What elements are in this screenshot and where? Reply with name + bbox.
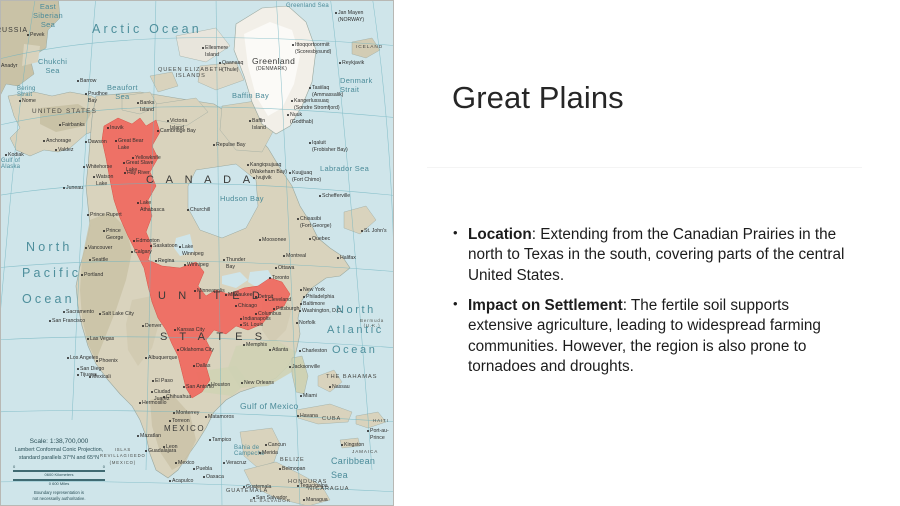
slide: Arctic Ocean North Pacific Ocean North A…	[0, 0, 900, 506]
map-city-dot	[329, 386, 331, 388]
map-city-dot	[142, 325, 144, 327]
map-city-dot	[77, 80, 79, 82]
map-city-dot	[213, 144, 215, 146]
map-city-dot	[265, 444, 267, 446]
map-city-dot	[169, 420, 171, 422]
map-city-dot	[63, 311, 65, 313]
map-city-dot	[291, 100, 293, 102]
map-city-dot	[155, 260, 157, 262]
map-city-dot	[77, 368, 79, 370]
map-city-dot	[145, 450, 147, 452]
map-city-dot	[87, 338, 89, 340]
map-city-dot	[124, 172, 126, 174]
map-city-dot	[96, 360, 98, 362]
map-city-dot	[265, 299, 267, 301]
map-city-dot	[187, 209, 189, 211]
map-city-dot	[43, 140, 45, 142]
map-city-dot	[193, 468, 195, 470]
bullet-lead-impact: Impact on Settlement	[468, 297, 623, 314]
map-city-dot	[59, 124, 61, 126]
map-city-dot	[150, 245, 152, 247]
map-city-dot	[27, 34, 29, 36]
map-city-dot	[208, 384, 210, 386]
map-city-dot	[309, 238, 311, 240]
map-city-dot	[223, 259, 225, 261]
map-city-dot	[93, 176, 95, 178]
map-city-dot	[337, 257, 339, 259]
map-city-dot	[240, 324, 242, 326]
map-city-dot	[240, 318, 242, 320]
map-boundary-note: Boundary representation is not necessari…	[0, 490, 134, 502]
page-title: Great Plains	[452, 79, 624, 116]
map-city-dot	[173, 412, 175, 414]
map-city-dot	[361, 230, 363, 232]
map-city-dot	[367, 430, 369, 432]
map-city-dot	[269, 349, 271, 351]
map-city-dot	[209, 439, 211, 441]
map-city-dot	[99, 313, 101, 315]
map-city-dot	[296, 322, 298, 324]
map-city-dot	[341, 444, 343, 446]
map-city-dot	[300, 395, 302, 397]
map-city-dot	[81, 274, 83, 276]
map-city-dot	[77, 374, 79, 376]
map-city-dot	[241, 382, 243, 384]
map-city-dot	[319, 195, 321, 197]
map-city-dot	[297, 485, 299, 487]
map-city-dot	[55, 149, 57, 151]
map-city-dot	[335, 12, 337, 14]
map-city-dot	[115, 140, 117, 142]
map-city-dot	[103, 230, 105, 232]
map-city-dot	[259, 239, 261, 241]
map-city-dot	[89, 376, 91, 378]
map-graphic	[0, 0, 394, 506]
map-city-dot	[243, 344, 245, 346]
map-city-dot	[309, 142, 311, 144]
map-city-dot	[339, 62, 341, 64]
map-city-dot	[297, 415, 299, 417]
map-city-dot	[145, 357, 147, 359]
map-city-dot	[289, 366, 291, 368]
map-city-dot	[167, 120, 169, 122]
map-city-dot	[255, 313, 257, 315]
map-city-dot	[123, 162, 125, 164]
map-city-dot	[193, 365, 195, 367]
map-city-dot	[183, 386, 185, 388]
map-city-dot	[163, 396, 165, 398]
map-city-dot	[151, 391, 153, 393]
map-city-dot	[89, 259, 91, 261]
map-city-dot	[247, 164, 249, 166]
map-canvas	[0, 0, 394, 506]
map-city-dot	[131, 251, 133, 253]
map-city-dot	[19, 100, 21, 102]
map-city-dot	[303, 296, 305, 298]
map-city-dot	[163, 446, 165, 448]
map-city-dot	[289, 172, 291, 174]
map-city-dot	[255, 296, 257, 298]
map-city-dot	[283, 255, 285, 257]
map-city-dot	[235, 305, 237, 307]
north-america-map: Arctic Ocean North Pacific Ocean North A…	[0, 0, 394, 506]
map-city-dot	[137, 435, 139, 437]
map-city-dot	[275, 267, 277, 269]
bullet-lead-location: Location	[468, 226, 532, 243]
map-city-dot	[67, 357, 69, 359]
map-city-dot	[243, 486, 245, 488]
map-scale-mi-label: 0 600 Miles	[13, 481, 105, 487]
map-city-dot	[287, 114, 289, 116]
map-scale-bar-km: 00 0600 Kilometers	[13, 464, 105, 478]
map-city-dot	[85, 93, 87, 95]
map-scale-line2: Lambert Conformal Conic Projection,	[0, 447, 134, 455]
map-city-dot	[309, 87, 311, 89]
title-divider	[427, 167, 862, 168]
map-city-dot	[300, 289, 302, 291]
map-city-dot	[137, 202, 139, 204]
map-city-dot	[253, 177, 255, 179]
map-city-dot	[179, 246, 181, 248]
map-city-dot	[203, 476, 205, 478]
map-city-dot	[152, 380, 154, 382]
map-city-dot	[132, 157, 134, 159]
map-city-dot	[133, 240, 135, 242]
bullet-list: Location: Extending from the Canadian Pr…	[452, 225, 852, 387]
map-city-dot	[87, 214, 89, 216]
map-city-dot	[139, 402, 141, 404]
map-scale-line3: standard parallels 37°N and 65°N	[0, 455, 134, 463]
map-city-dot	[300, 303, 302, 305]
map-city-dot	[249, 120, 251, 122]
map-city-dot	[279, 468, 281, 470]
map-city-dot	[303, 499, 305, 501]
map-city-dot	[177, 349, 179, 351]
map-city-dot	[292, 44, 294, 46]
map-city-dot	[174, 329, 176, 331]
map-scale-bar-mi: 0 600 Miles	[13, 479, 105, 487]
map-city-dot	[253, 497, 255, 499]
map-city-dot	[184, 264, 186, 266]
map-city-dot	[49, 320, 51, 322]
map-city-dot	[137, 102, 139, 104]
map-city-dot	[5, 154, 7, 156]
map-city-dot	[175, 462, 177, 464]
map-city-dot	[83, 166, 85, 168]
map-city-dot	[299, 310, 301, 312]
map-city-dot	[194, 290, 196, 292]
map-city-dot	[202, 47, 204, 49]
map-city-dot	[157, 130, 159, 132]
map-city-dot	[299, 350, 301, 352]
map-city-dot	[85, 247, 87, 249]
map-city-dot	[85, 141, 87, 143]
map-scale-line1: Scale: 1:38,700,000	[0, 437, 134, 447]
map-city-dot	[219, 62, 221, 64]
content-panel: Great Plains Location: Extending from th…	[394, 0, 900, 506]
map-city-dot	[297, 218, 299, 220]
map-scale-km-label: 0600 Kilometers	[13, 472, 105, 478]
map-city-dot	[225, 294, 227, 296]
map-city-dot	[107, 127, 109, 129]
map-city-dot	[223, 462, 225, 464]
map-city-dot	[63, 187, 65, 189]
map-city-dot	[205, 416, 207, 418]
map-city-dot	[269, 277, 271, 279]
map-scale-block: Scale: 1:38,700,000 Lambert Conformal Co…	[0, 437, 134, 502]
map-city-dot	[273, 308, 275, 310]
map-city-dot	[259, 452, 261, 454]
list-item: Impact on Settlement: The fertile soil s…	[452, 296, 852, 377]
map-city-dot	[169, 480, 171, 482]
list-item: Location: Extending from the Canadian Pr…	[452, 225, 852, 286]
